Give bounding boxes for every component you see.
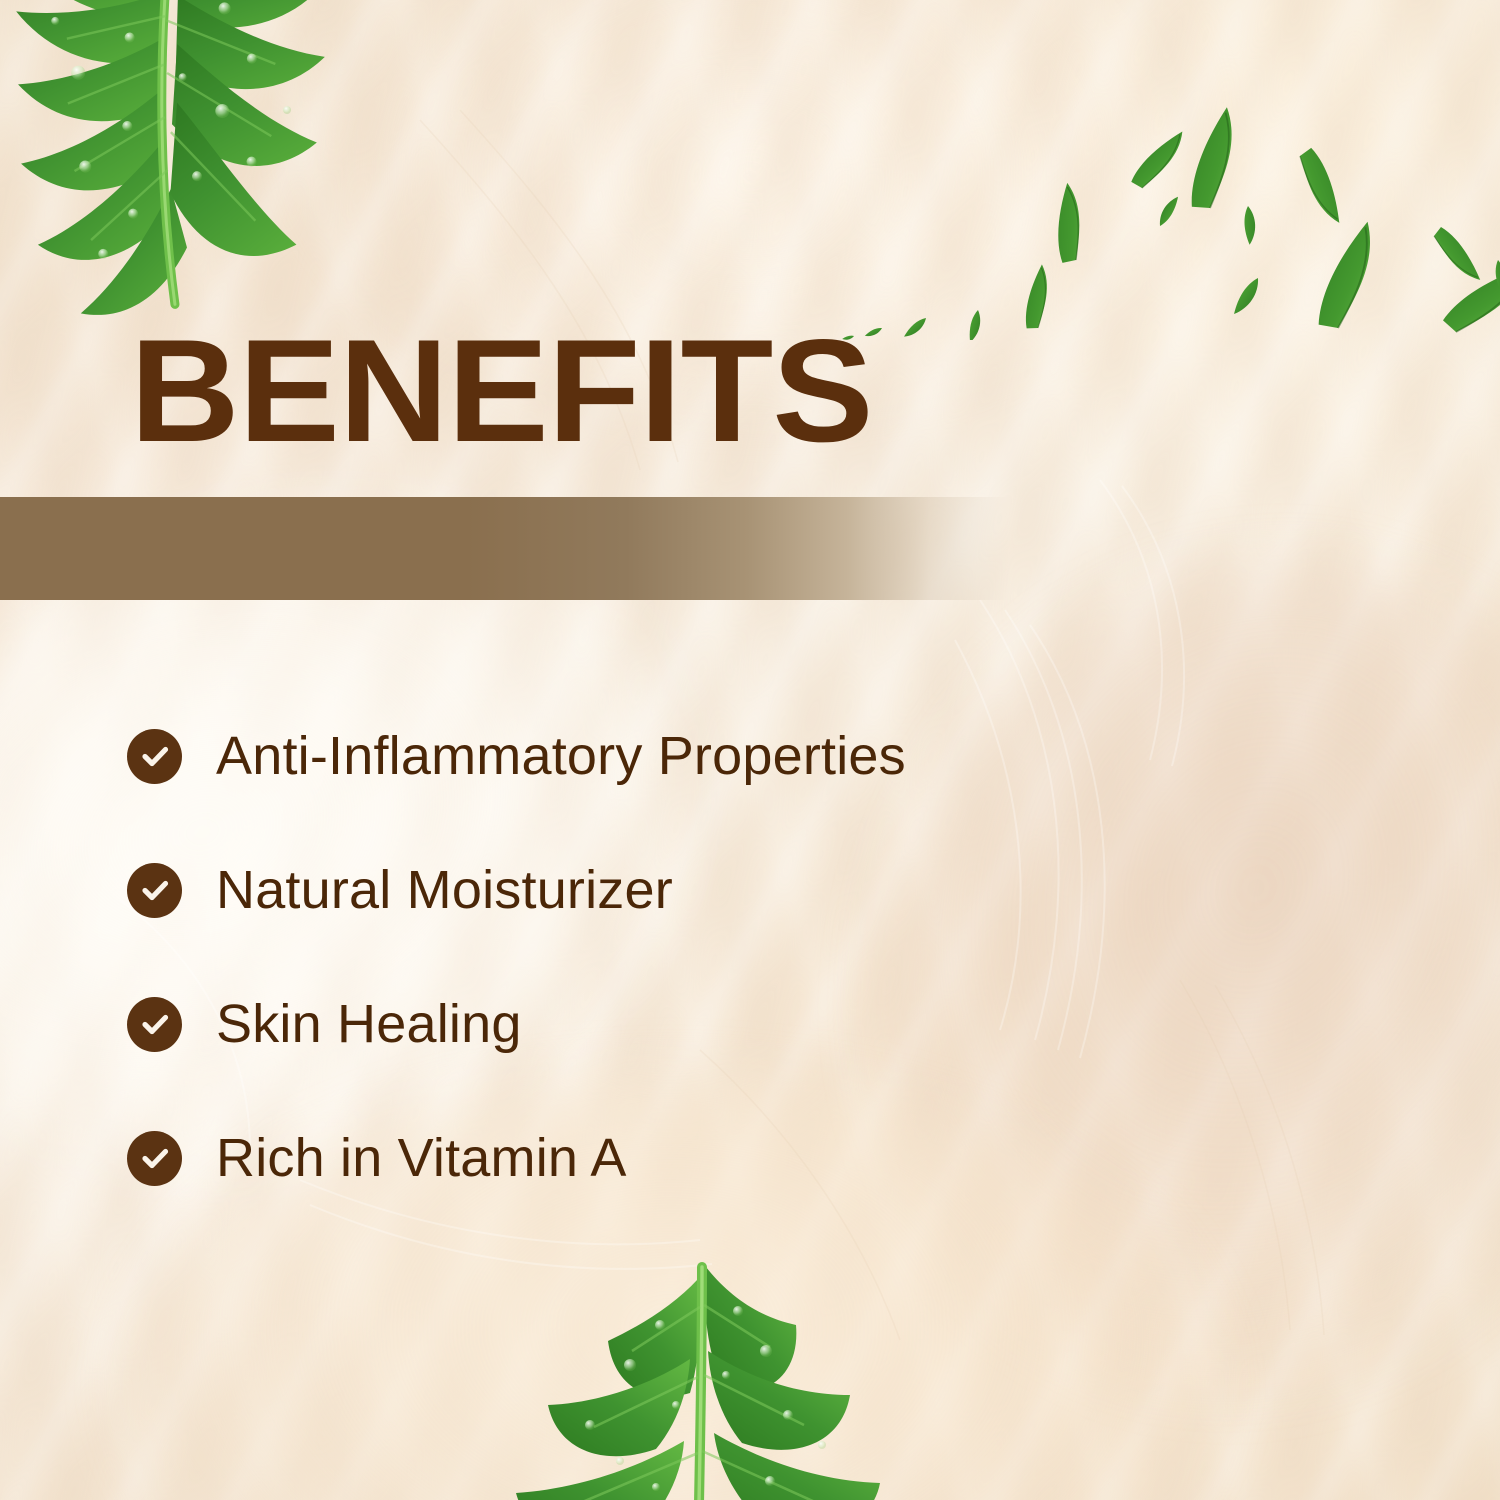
list-item: Skin Healing [127, 957, 1227, 1091]
section-divider-bar [0, 497, 1010, 600]
check-circle-icon [127, 863, 182, 918]
check-circle-icon [127, 997, 182, 1052]
benefit-label: Natural Moisturizer [216, 863, 673, 917]
list-item: Anti-Inflammatory Properties [127, 689, 1227, 823]
benefit-label: Skin Healing [216, 997, 522, 1051]
page-title: BENEFITS [130, 318, 873, 464]
list-item: Rich in Vitamin A [127, 1091, 1227, 1225]
check-circle-icon [127, 729, 182, 784]
benefit-label: Anti-Inflammatory Properties [216, 729, 906, 783]
benefits-infographic: BENEFITS Anti-Inflammatory Properties Na… [0, 0, 1500, 1500]
list-item: Natural Moisturizer [127, 823, 1227, 957]
check-circle-icon [127, 1131, 182, 1186]
benefits-list: Anti-Inflammatory Properties Natural Moi… [127, 689, 1227, 1225]
benefit-label: Rich in Vitamin A [216, 1131, 627, 1185]
